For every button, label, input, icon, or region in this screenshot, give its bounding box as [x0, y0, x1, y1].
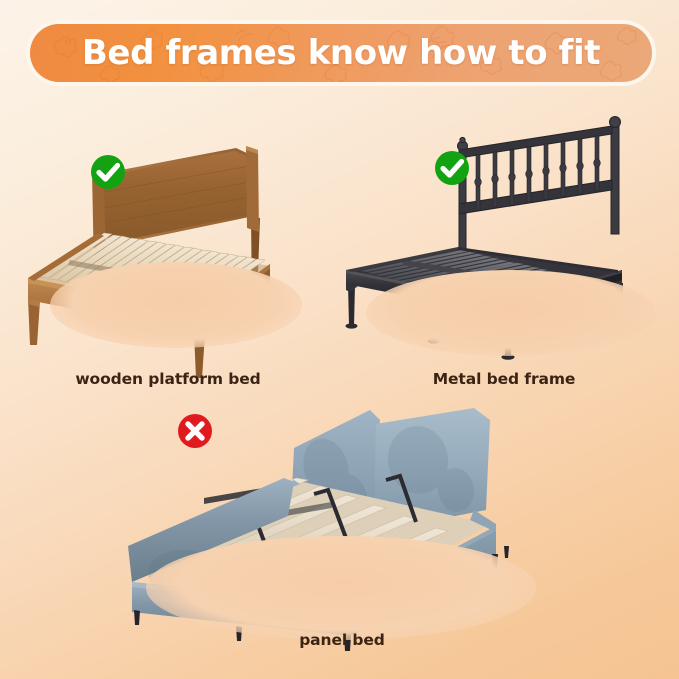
wooden-bed-stage: [8, 120, 328, 352]
product-card-metal-bed-frame: Metal bed frame: [336, 120, 672, 395]
product-caption: panel bed: [118, 631, 566, 649]
check-circle-icon: [432, 148, 472, 188]
product-card-wooden-platform-bed: wooden platform bed: [8, 120, 328, 395]
header-banner-fill: Bed frames know how to fit: [30, 24, 652, 82]
floor-shadow: [50, 262, 302, 348]
x-circle-icon: [175, 411, 215, 451]
floor-shadow: [366, 270, 656, 356]
product-caption: Metal bed frame: [336, 370, 672, 388]
status-badge: [432, 148, 472, 188]
floor-shadow: [146, 536, 536, 640]
product-card-panel-bed: panel bed: [118, 398, 566, 670]
status-badge: [175, 411, 215, 451]
check-circle-icon: [88, 152, 128, 192]
header-banner: Bed frames know how to fit: [26, 20, 656, 86]
status-badge: [88, 152, 128, 192]
page-title: Bed frames know how to fit: [82, 33, 600, 73]
metal-bed-stage: [336, 120, 672, 352]
product-caption: wooden platform bed: [8, 370, 328, 388]
infographic-page: { "header": { "title": "Bed frames know …: [0, 0, 679, 679]
